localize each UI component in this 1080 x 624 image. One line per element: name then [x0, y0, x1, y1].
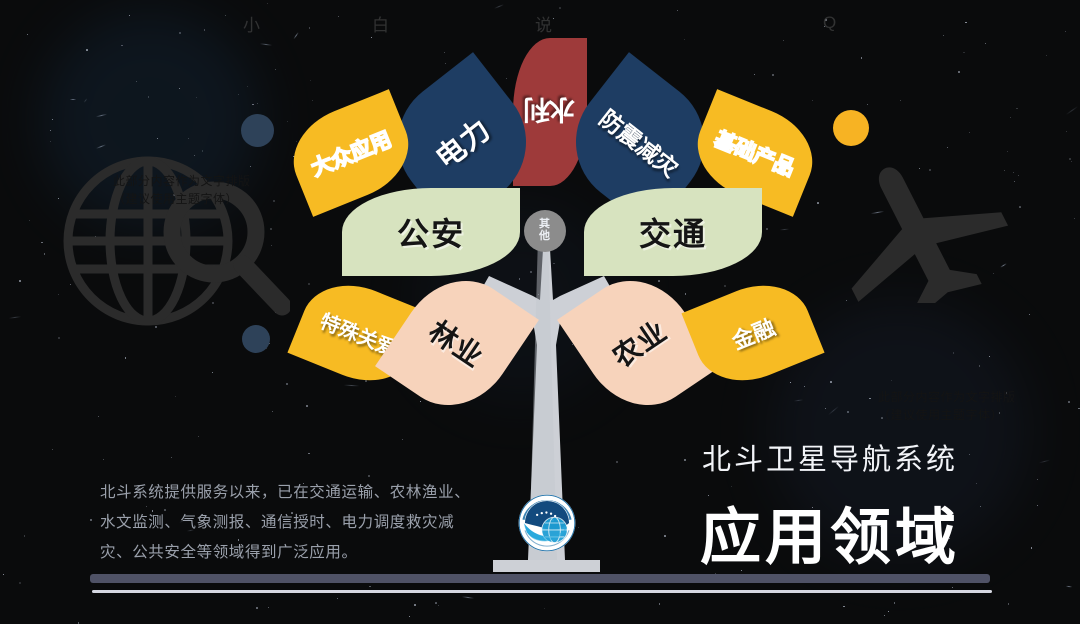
infographic-canvas: 小 白 说 Q 此部分内容作为文字排版 （建议使用主题字体） 此部分内: [0, 0, 1080, 624]
petal-label: 林业: [375, 258, 539, 427]
ghost-placeholder-right: 此部分内容作为文字排版 （建议使用主题字体）: [878, 388, 1016, 424]
petal-jiaotong[interactable]: 交通: [584, 188, 762, 276]
dot-navy-upper-left: [241, 114, 274, 147]
dot-navy-lower-left: [242, 325, 270, 353]
airplane-icon: [820, 155, 1020, 303]
hub-label-line2: 他: [539, 231, 551, 243]
footer-bar-thick: [90, 574, 990, 583]
watermark-char-4: Q: [823, 13, 838, 33]
beidou-logo: [518, 494, 576, 552]
watermark-row: 小 白 说 Q: [0, 6, 1080, 40]
watermark-char-2: 白: [372, 11, 391, 36]
page-title: 应用领域: [700, 487, 960, 576]
footer-bar-thin: [92, 590, 992, 593]
description-paragraph: 北斗系统提供服务以来，已在交通运输、农林渔业、水文监测、气象测报、通信授时、电力…: [100, 478, 482, 569]
watermark-char-3: 说: [535, 11, 554, 36]
petal-linye[interactable]: 林业: [375, 258, 539, 427]
petal-label: 公安: [342, 188, 520, 276]
ghost-placeholder-left: 此部分内容作为文字排版 （建议使用主题字体）: [113, 172, 251, 208]
petal-gongan[interactable]: 公安: [342, 188, 520, 276]
globe-magnifier-icon: [60, 148, 290, 333]
dot-amber-upper-right: [833, 110, 869, 146]
watermark-char-1: 小: [243, 11, 262, 36]
petal-label: 交通: [584, 188, 762, 276]
page-subtitle: 北斗卫星导航系统: [702, 436, 958, 478]
hub-other-node[interactable]: 其 他: [524, 210, 566, 252]
